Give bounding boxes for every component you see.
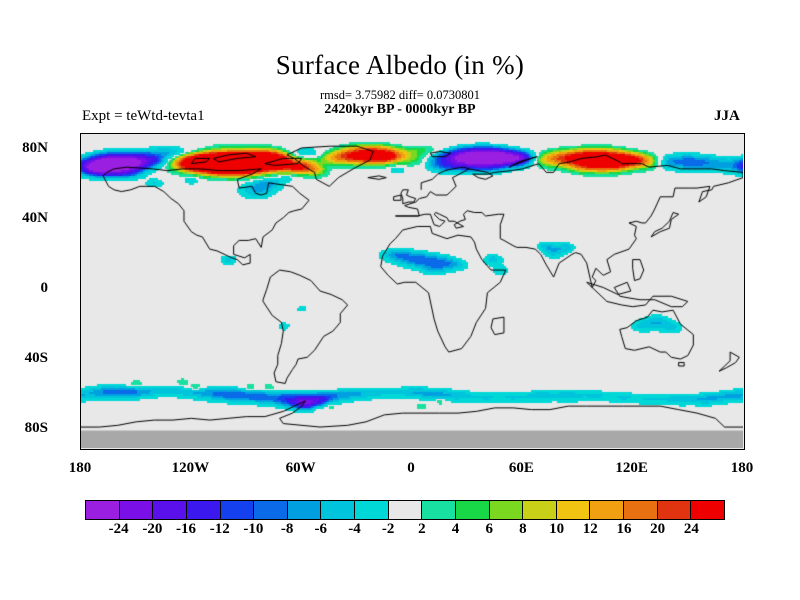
lon-axis-label: 120W xyxy=(150,460,230,477)
lat-tick xyxy=(80,151,81,152)
lat-tick xyxy=(744,186,745,187)
lon-axis-label: 180 xyxy=(40,460,120,477)
lat-tick xyxy=(80,221,81,222)
lon-tick xyxy=(541,449,542,450)
lat-axis-label: 80S xyxy=(0,420,48,437)
lat-tick xyxy=(80,186,81,187)
lat-tick xyxy=(80,291,81,292)
lon-tick xyxy=(357,133,358,134)
lon-tick xyxy=(725,133,726,134)
lon-tick xyxy=(357,449,358,450)
lat-tick xyxy=(80,308,81,309)
colorbar-swatch xyxy=(624,501,658,519)
lon-tick xyxy=(430,133,431,134)
lon-tick xyxy=(688,449,689,450)
colorbar-swatch xyxy=(120,501,154,519)
colorbar-swatch xyxy=(86,501,120,519)
lat-tick xyxy=(744,396,745,397)
lat-tick xyxy=(744,361,745,362)
lon-tick xyxy=(412,133,413,134)
lon-tick xyxy=(449,449,450,450)
lon-tick xyxy=(706,133,707,134)
lon-tick xyxy=(394,133,395,134)
lon-tick xyxy=(81,449,82,450)
lon-tick xyxy=(669,449,670,450)
experiment-label: Expt = teWtd-tevta1 xyxy=(82,108,205,125)
lat-tick xyxy=(744,378,745,379)
lon-tick xyxy=(338,133,339,134)
lon-tick xyxy=(541,133,542,134)
lon-tick xyxy=(320,133,321,134)
lon-tick xyxy=(486,133,487,134)
lat-tick xyxy=(744,308,745,309)
lon-tick xyxy=(118,133,119,134)
lat-tick xyxy=(80,169,81,170)
colorbar-swatch xyxy=(389,501,423,519)
lat-tick xyxy=(80,256,81,257)
lon-tick xyxy=(504,449,505,450)
colorbar-swatch xyxy=(288,501,322,519)
map-plot-area xyxy=(80,133,745,450)
lon-tick xyxy=(688,133,689,134)
lon-tick xyxy=(633,449,634,450)
lon-axis-label: 180 xyxy=(702,460,782,477)
lon-tick xyxy=(614,449,615,450)
lat-axis-label: 80N xyxy=(0,140,48,157)
lon-tick xyxy=(191,449,192,450)
lon-tick xyxy=(578,449,579,450)
lon-tick xyxy=(173,133,174,134)
lon-tick xyxy=(725,449,726,450)
lon-tick xyxy=(81,133,82,134)
lon-tick xyxy=(559,449,560,450)
lat-tick xyxy=(744,239,745,240)
lon-tick xyxy=(247,449,248,450)
lat-tick xyxy=(744,343,745,344)
lat-axis-label: 40S xyxy=(0,350,48,367)
lon-tick xyxy=(412,449,413,450)
lon-tick xyxy=(173,449,174,450)
colorbar-tick-label: 24 xyxy=(661,521,721,538)
lat-tick xyxy=(80,204,81,205)
lon-tick xyxy=(669,133,670,134)
lon-tick xyxy=(155,449,156,450)
lat-tick xyxy=(744,169,745,170)
lon-tick xyxy=(651,449,652,450)
lat-tick xyxy=(744,151,745,152)
lat-tick xyxy=(80,326,81,327)
lon-tick xyxy=(210,449,211,450)
lon-tick xyxy=(283,133,284,134)
lat-tick xyxy=(744,291,745,292)
colorbar-swatch xyxy=(254,501,288,519)
lon-tick xyxy=(394,449,395,450)
lon-tick xyxy=(504,133,505,134)
lon-tick xyxy=(522,449,523,450)
colorbar-swatch xyxy=(221,501,255,519)
lat-tick xyxy=(744,204,745,205)
lon-tick xyxy=(633,133,634,134)
lat-tick xyxy=(744,326,745,327)
lat-tick xyxy=(744,274,745,275)
lon-tick xyxy=(320,449,321,450)
lat-tick xyxy=(80,361,81,362)
lon-tick xyxy=(136,449,137,450)
colorbar-swatch xyxy=(523,501,557,519)
lon-tick xyxy=(449,133,450,134)
lon-tick xyxy=(467,449,468,450)
colorbar-swatch xyxy=(355,501,389,519)
lon-tick xyxy=(155,133,156,134)
lon-axis-label: 120E xyxy=(592,460,672,477)
colorbar-swatch xyxy=(456,501,490,519)
lon-tick xyxy=(578,133,579,134)
lat-axis-label: 40N xyxy=(0,210,48,227)
colorbar-swatch xyxy=(490,501,524,519)
lat-tick xyxy=(80,343,81,344)
lon-tick xyxy=(136,133,137,134)
lon-tick xyxy=(302,133,303,134)
lon-tick xyxy=(118,449,119,450)
colorbar-swatch xyxy=(153,501,187,519)
colorbar-swatch xyxy=(691,501,724,519)
lat-tick xyxy=(744,413,745,414)
lon-tick xyxy=(338,449,339,450)
lat-axis-label: 0 xyxy=(0,280,48,297)
lon-tick xyxy=(210,133,211,134)
colorbar-swatch xyxy=(658,501,692,519)
lon-tick xyxy=(99,449,100,450)
colorbar-swatch xyxy=(321,501,355,519)
lon-tick xyxy=(228,133,229,134)
lon-tick xyxy=(743,133,744,134)
lon-tick xyxy=(614,133,615,134)
lon-tick xyxy=(265,133,266,134)
colorbar xyxy=(85,500,725,520)
lon-tick xyxy=(743,449,744,450)
colorbar-swatch xyxy=(557,501,591,519)
lat-tick xyxy=(80,431,81,432)
lon-tick xyxy=(191,133,192,134)
page-title: Surface Albedo (in %) xyxy=(0,50,800,81)
colorbar-swatch xyxy=(422,501,456,519)
lon-tick xyxy=(228,449,229,450)
lat-tick xyxy=(80,378,81,379)
lon-tick xyxy=(99,133,100,134)
lon-tick xyxy=(559,133,560,134)
colorbar-swatch xyxy=(590,501,624,519)
lon-tick xyxy=(596,449,597,450)
lon-tick xyxy=(486,449,487,450)
rmsd-subtitle: rmsd= 3.75982 diff= 0.0730801 xyxy=(0,88,800,103)
lat-tick xyxy=(744,221,745,222)
lon-tick xyxy=(706,449,707,450)
lon-tick xyxy=(430,449,431,450)
lon-tick xyxy=(283,449,284,450)
colorbar-swatch xyxy=(187,501,221,519)
lon-tick xyxy=(596,133,597,134)
lon-axis-label: 60E xyxy=(481,460,561,477)
lon-tick xyxy=(302,449,303,450)
lon-tick xyxy=(651,133,652,134)
lat-tick xyxy=(80,239,81,240)
lon-tick xyxy=(375,133,376,134)
map-anomaly-canvas xyxy=(81,134,743,448)
lat-tick xyxy=(744,431,745,432)
lat-tick xyxy=(80,396,81,397)
season-label: JJA xyxy=(714,108,740,125)
lon-tick xyxy=(375,449,376,450)
lon-tick xyxy=(467,133,468,134)
lon-tick xyxy=(522,133,523,134)
figure-root: Surface Albedo (in %) rmsd= 3.75982 diff… xyxy=(0,0,800,600)
lon-tick xyxy=(247,133,248,134)
lat-tick xyxy=(744,256,745,257)
lon-axis-label: 60W xyxy=(261,460,341,477)
lon-tick xyxy=(265,449,266,450)
lon-axis-label: 0 xyxy=(371,460,451,477)
lat-tick xyxy=(80,413,81,414)
lat-tick xyxy=(80,274,81,275)
